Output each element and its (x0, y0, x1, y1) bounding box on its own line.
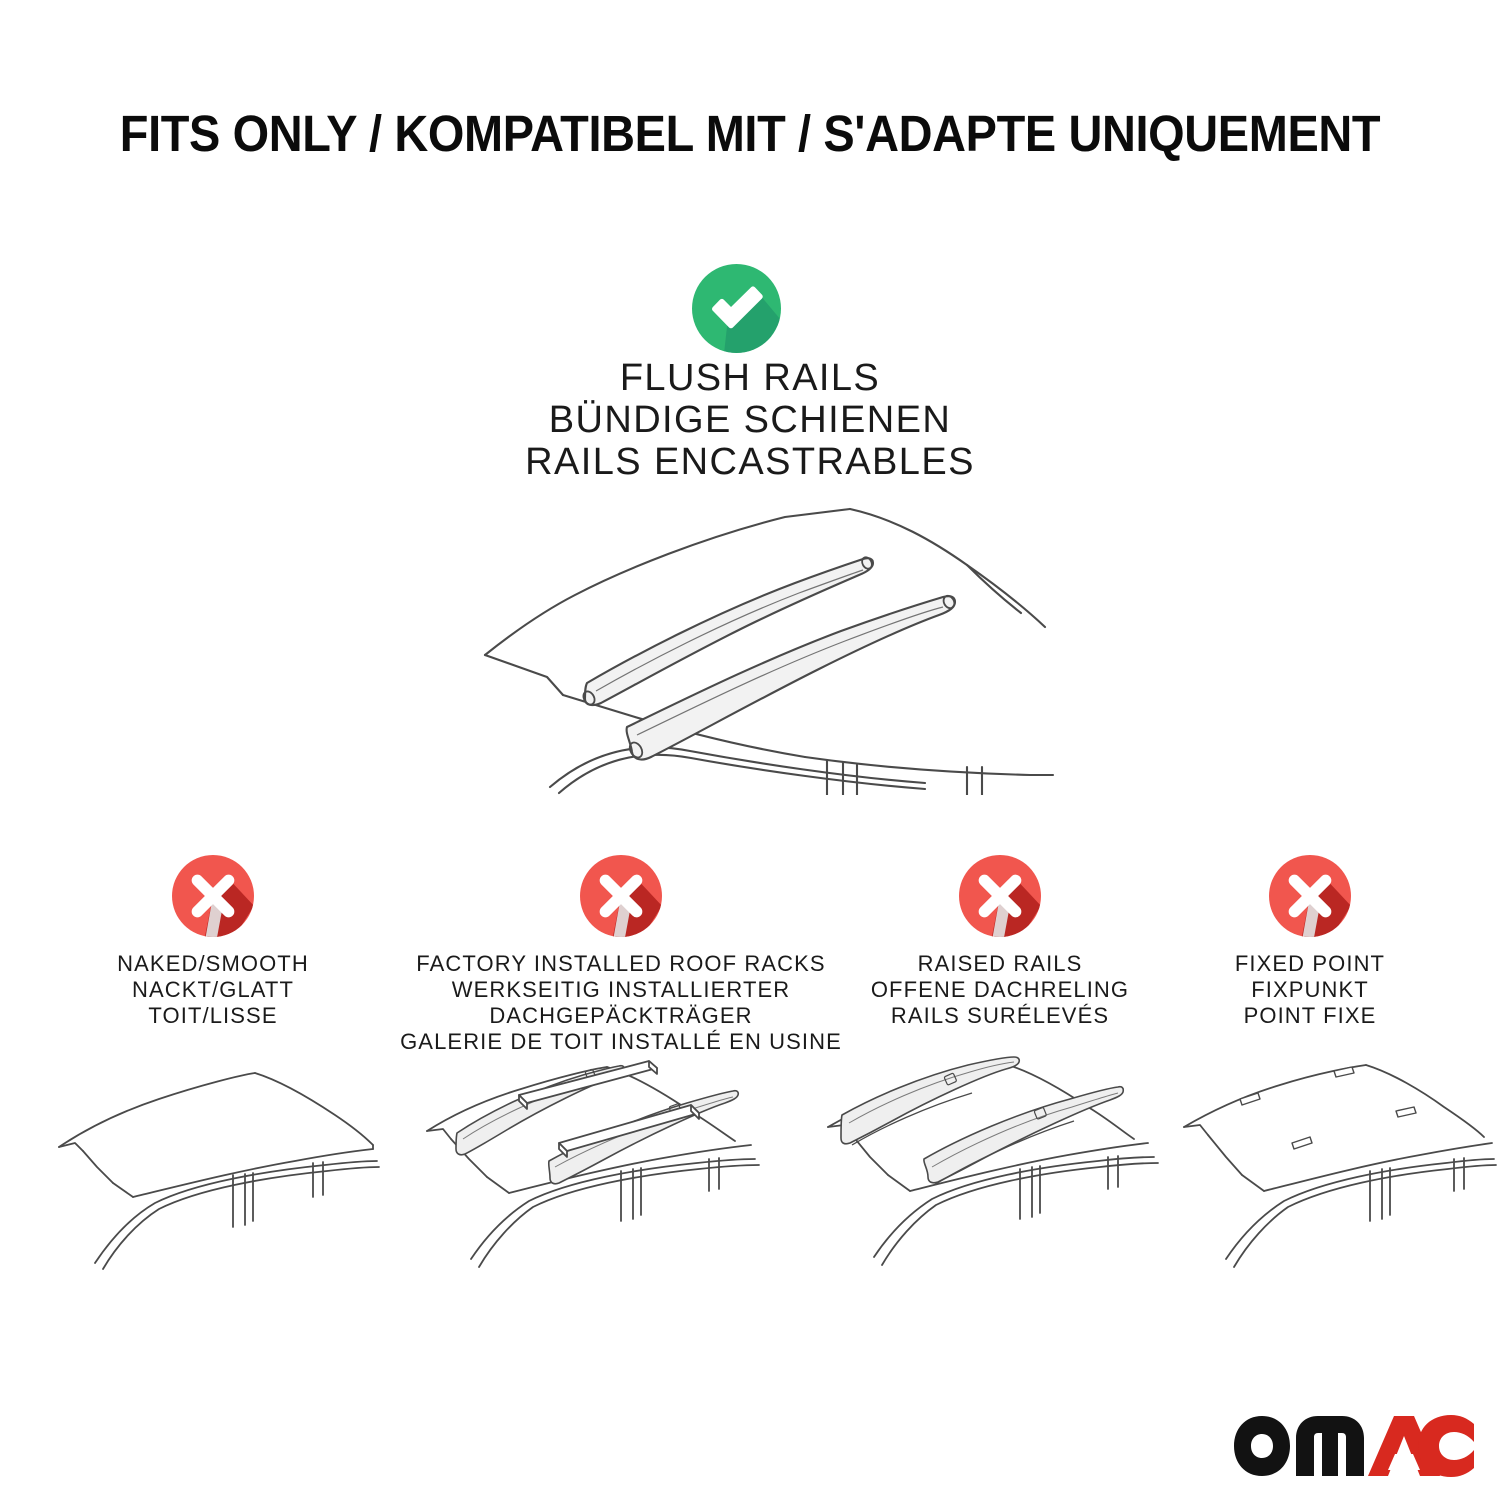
infographic-page: FITS ONLY / KOMPATIBEL MIT / S'ADAPTE UN… (0, 0, 1500, 1500)
label-line-1: FACTORY INSTALLED ROOF RACKS (391, 951, 851, 977)
compatible-label-line-1: FLUSH RAILS (0, 357, 1500, 399)
car-roof-factory-rack-illustration (425, 1055, 770, 1280)
car-roof-fixed-point-icon (1182, 1055, 1497, 1280)
logo-letter-o (1234, 1416, 1290, 1476)
compatible-label-line-2: BÜNDIGE SCHIENEN (0, 399, 1500, 441)
label-line-1: FIXED POINT (1160, 951, 1460, 977)
check-icon (692, 264, 781, 353)
label-line-2: OFFENE DACHRELING (842, 977, 1158, 1003)
cross-icon (580, 855, 662, 937)
incompatible-column-naked: NAKED/SMOOTH NACKT/GLATT TOIT/LISSE (53, 855, 373, 1029)
car-roof-naked-icon (55, 1055, 385, 1280)
cross-badge (959, 855, 1041, 937)
label-line-1: NAKED/SMOOTH (53, 951, 373, 977)
cross-badge (580, 855, 662, 937)
car-roof-raised-rails-illustration (822, 1055, 1167, 1280)
incompatible-label-naked: NAKED/SMOOTH NACKT/GLATT TOIT/LISSE (53, 951, 373, 1029)
label-line-2: FIXPUNKT (1160, 977, 1460, 1003)
car-roof-naked-illustration (55, 1055, 385, 1280)
label-line-2: WERKSEITIG INSTALLIERTER (391, 977, 851, 1003)
incompatible-column-fixed-point: FIXED POINT FIXPUNKT POINT FIXE (1160, 855, 1460, 1029)
cross-badge (1269, 855, 1351, 937)
label-line-3: POINT FIXE (1160, 1003, 1460, 1029)
omac-logo (1232, 1412, 1476, 1480)
label-line-3: TOIT/LISSE (53, 1003, 373, 1029)
logo-letter-m (1296, 1416, 1364, 1476)
label-line-3: DACHGEPÄCKTRÄGER (391, 1003, 851, 1029)
cross-icon (172, 855, 254, 937)
label-line-3: RAILS SURÉLEVÉS (842, 1003, 1158, 1029)
incompatible-column-raised-rails: RAISED RAILS OFFENE DACHRELING RAILS SUR… (842, 855, 1158, 1029)
incompatible-label-fixed-point: FIXED POINT FIXPUNKT POINT FIXE (1160, 951, 1460, 1029)
omac-logo-icon (1232, 1412, 1476, 1480)
car-roof-flush-rails-illustration (455, 495, 1055, 795)
label-line-4: GALERIE DE TOIT INSTALLÉ EN USINE (391, 1029, 851, 1055)
car-roof-flush-rails-icon (455, 495, 1055, 795)
car-roof-factory-rack-icon (425, 1055, 770, 1280)
cross-badge (172, 855, 254, 937)
compatible-label: FLUSH RAILS BÜNDIGE SCHIENEN RAILS ENCAS… (0, 357, 1500, 483)
label-line-1: RAISED RAILS (842, 951, 1158, 977)
car-roof-raised-rails-icon (822, 1055, 1167, 1280)
label-line-2: NACKT/GLATT (53, 977, 373, 1003)
check-badge (692, 264, 781, 353)
compatible-label-line-3: RAILS ENCASTRABLES (0, 441, 1500, 483)
car-roof-fixed-point-illustration (1182, 1055, 1497, 1280)
flush-rail-front (627, 594, 957, 760)
incompatible-label-raised-rails: RAISED RAILS OFFENE DACHRELING RAILS SUR… (842, 951, 1158, 1029)
page-title: FITS ONLY / KOMPATIBEL MIT / S'ADAPTE UN… (60, 104, 1440, 163)
cross-icon (959, 855, 1041, 937)
cross-icon (1269, 855, 1351, 937)
incompatible-label-factory-rack: FACTORY INSTALLED ROOF RACKS WERKSEITIG … (391, 951, 851, 1055)
incompatible-column-factory-rack: FACTORY INSTALLED ROOF RACKS WERKSEITIG … (391, 855, 851, 1055)
